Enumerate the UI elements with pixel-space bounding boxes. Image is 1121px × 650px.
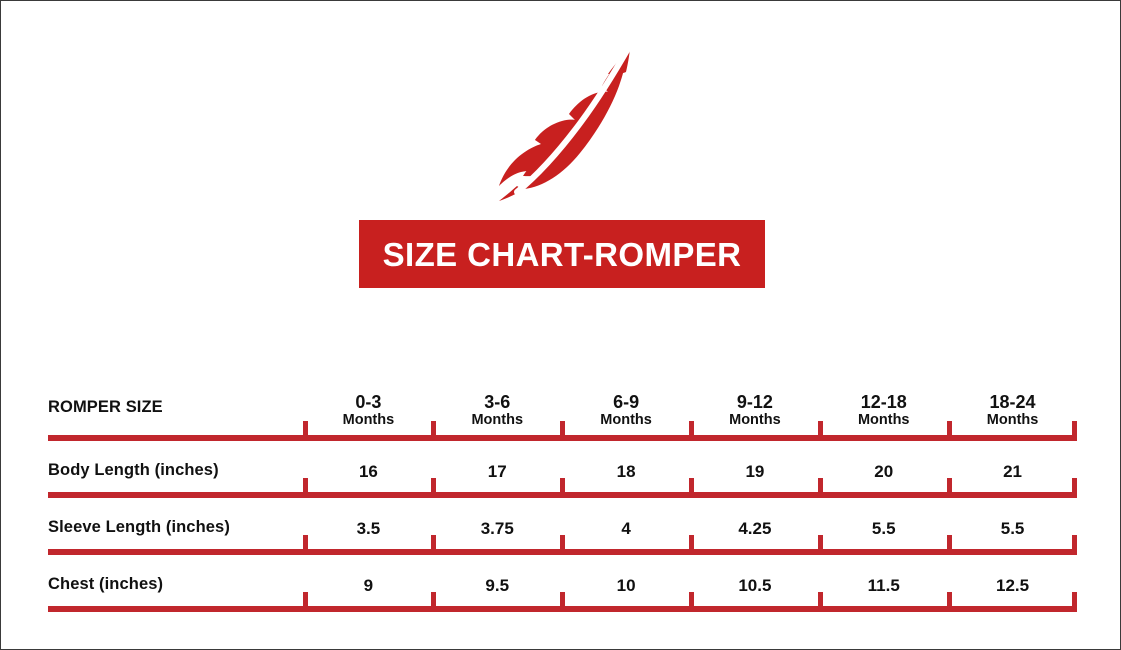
column-tick <box>818 592 823 612</box>
column-tick <box>1072 421 1077 441</box>
column-tick <box>431 478 436 498</box>
column-header: 0-3 Months <box>304 392 433 441</box>
column-tick <box>947 592 952 612</box>
column-tick <box>560 421 565 441</box>
feather-icon <box>477 34 647 204</box>
column-tick <box>818 421 823 441</box>
column-header-range: 9-12 <box>690 392 819 413</box>
column-header-range: 6-9 <box>562 392 691 413</box>
column-tick <box>818 478 823 498</box>
column-tick <box>1072 535 1077 555</box>
column-tick <box>560 535 565 555</box>
table-row: Body Length (inches) 16 17 18 19 20 21 <box>48 441 1077 498</box>
title-banner: SIZE CHART-ROMPER <box>359 220 765 288</box>
column-tick <box>303 478 308 498</box>
column-tick <box>303 592 308 612</box>
column-header-unit: Months <box>304 412 433 429</box>
size-chart-table: ROMPER SIZE 0-3 Months 3-6 Months 6-9 Mo… <box>48 379 1077 612</box>
column-header-unit: Months <box>433 412 562 429</box>
column-header: 6-9 Months <box>562 392 691 441</box>
column-tick <box>1072 478 1077 498</box>
column-tick <box>947 421 952 441</box>
column-tick <box>560 592 565 612</box>
column-tick <box>818 535 823 555</box>
column-tick <box>431 592 436 612</box>
table-row: Chest (inches) 9 9.5 10 10.5 11.5 12.5 <box>48 555 1077 612</box>
column-header-unit: Months <box>562 412 691 429</box>
brand-logo <box>1 29 1121 209</box>
column-header-unit: Months <box>948 412 1077 429</box>
page-title: SIZE CHART-ROMPER <box>383 238 742 271</box>
column-tick <box>947 535 952 555</box>
column-tick <box>303 535 308 555</box>
column-header-range: 18-24 <box>948 392 1077 413</box>
column-header-range: 12-18 <box>819 392 948 413</box>
column-header: 3-6 Months <box>433 392 562 441</box>
column-tick <box>1072 592 1077 612</box>
size-chart-page: SIZE CHART-ROMPER ROMPER SIZE 0-3 Months… <box>0 0 1121 650</box>
column-tick <box>689 421 694 441</box>
table-header-row: ROMPER SIZE 0-3 Months 3-6 Months 6-9 Mo… <box>48 379 1077 441</box>
column-tick <box>431 535 436 555</box>
column-tick <box>689 592 694 612</box>
column-header: 18-24 Months <box>948 392 1077 441</box>
column-tick <box>689 478 694 498</box>
column-header-unit: Months <box>690 412 819 429</box>
column-tick <box>303 421 308 441</box>
column-header-range: 0-3 <box>304 392 433 413</box>
column-tick <box>947 478 952 498</box>
column-tick <box>689 535 694 555</box>
column-header-unit: Months <box>819 412 948 429</box>
column-header-range: 3-6 <box>433 392 562 413</box>
table-row: Sleeve Length (inches) 3.5 3.75 4 4.25 5… <box>48 498 1077 555</box>
column-header: 9-12 Months <box>690 392 819 441</box>
column-tick <box>560 478 565 498</box>
column-header: 12-18 Months <box>819 392 948 441</box>
column-tick <box>431 421 436 441</box>
